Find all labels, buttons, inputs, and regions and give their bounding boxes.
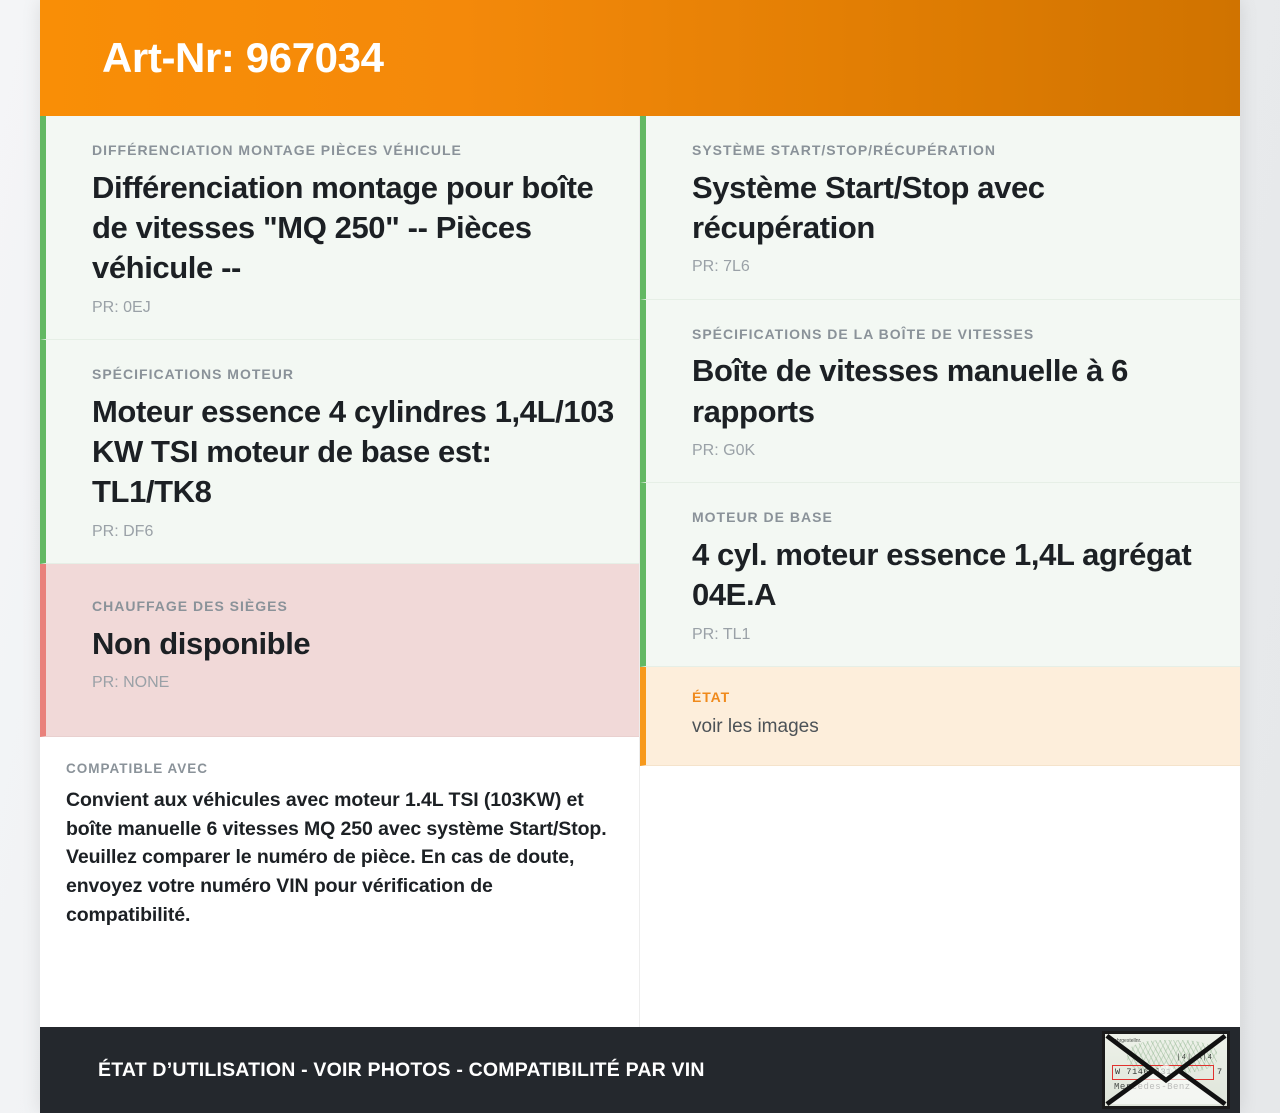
compatibility-text: Convient aux véhicules avec moteur 1.4L … xyxy=(66,786,611,929)
spec-card-seat-heating[interactable]: CHAUFFAGE DES SIÈGES Non disponible PR: … xyxy=(40,564,639,737)
spec-card-title: Système Start/Stop avec récupération xyxy=(692,168,1216,249)
condition-label: ÉTAT xyxy=(692,689,1216,706)
spec-card-title: Différenciation montage pour boîte de vi… xyxy=(92,168,615,289)
header-bar: Art-Nr: 967034 xyxy=(40,0,1240,116)
compatibility-section: COMPATIBLE AVEC Convient aux véhicules a… xyxy=(40,737,639,953)
document-code-top: |4| A|4 xyxy=(1177,1054,1213,1062)
spec-card-label: MOTEUR DE BASE xyxy=(692,509,1216,526)
document-field-label: Fahrgestellnr. xyxy=(1111,1038,1141,1044)
spec-card-title: Boîte de vitesses manuelle à 6 rapports xyxy=(692,351,1216,432)
registration-document-image: Fahrgestellnr. |4| A|4 W 71463J31 7 Merc… xyxy=(1105,1034,1227,1106)
spec-card-label: CHAUFFAGE DES SIÈGES xyxy=(92,598,615,615)
compatibility-label: COMPATIBLE AVEC xyxy=(66,761,611,776)
vin-number: W 71463J31 xyxy=(1115,1067,1172,1077)
spec-card-title: 4 cyl. moteur essence 1,4L agrégat 04E.A xyxy=(692,535,1216,616)
left-column-filler xyxy=(40,953,639,1027)
spec-card-pr-code: PR: 0EJ xyxy=(92,298,615,317)
vin-number-tail: 7 xyxy=(1217,1067,1222,1077)
spec-card-title: Non disponible xyxy=(92,624,615,664)
condition-value: voir les images xyxy=(692,715,1216,740)
spec-card-label: DIFFÉRENCIATION MONTAGE PIÈCES VÉHICULE xyxy=(92,142,615,159)
spec-card-start-stop[interactable]: SYSTÈME START/STOP/RÉCUPÉRATION Système … xyxy=(640,116,1240,300)
listing-sheet: Art-Nr: 967034 DIFFÉRENCIATION MONTAGE P… xyxy=(40,0,1240,1113)
condition-card[interactable]: ÉTAT voir les images xyxy=(640,667,1240,766)
footer-bar: ÉTAT D’UTILISATION - VOIR PHOTOS - COMPA… xyxy=(40,1027,1240,1113)
spec-columns: DIFFÉRENCIATION MONTAGE PIÈCES VÉHICULE … xyxy=(40,116,1240,1027)
page-title: Art-Nr: 967034 xyxy=(102,37,384,79)
spec-card-label: SPÉCIFICATIONS MOTEUR xyxy=(92,366,615,383)
spec-card-label: SYSTÈME START/STOP/RÉCUPÉRATION xyxy=(692,142,1216,159)
left-column: DIFFÉRENCIATION MONTAGE PIÈCES VÉHICULE … xyxy=(40,116,640,1027)
spec-card-engine-specs[interactable]: SPÉCIFICATIONS MOTEUR Moteur essence 4 c… xyxy=(40,340,639,564)
spec-card-pr-code: PR: DF6 xyxy=(92,522,615,541)
spec-card-base-engine[interactable]: MOTEUR DE BASE 4 cyl. moteur essence 1,4… xyxy=(640,483,1240,667)
spec-card-label: SPÉCIFICATIONS DE LA BOÎTE DE VITESSES xyxy=(692,326,1216,343)
spec-card-title: Moteur essence 4 cylindres 1,4L/103 KW T… xyxy=(92,392,615,513)
page-root: Art-Nr: 967034 DIFFÉRENCIATION MONTAGE P… xyxy=(0,0,1280,1113)
right-column: SYSTÈME START/STOP/RÉCUPÉRATION Système … xyxy=(640,116,1240,1027)
spec-card-pr-code: PR: G0K xyxy=(692,441,1216,460)
spec-card-pr-code: PR: TL1 xyxy=(692,625,1216,644)
vehicle-make: Mercedes-Benz xyxy=(1114,1082,1191,1092)
spec-card-gearbox-specs[interactable]: SPÉCIFICATIONS DE LA BOÎTE DE VITESSES B… xyxy=(640,300,1240,484)
spec-card-pr-code: PR: NONE xyxy=(92,673,615,692)
footer-text: ÉTAT D’UTILISATION - VOIR PHOTOS - COMPA… xyxy=(98,1059,705,1082)
spec-card-pr-code: PR: 7L6 xyxy=(692,257,1216,276)
right-column-filler xyxy=(640,766,1240,1027)
spec-card-differentiation[interactable]: DIFFÉRENCIATION MONTAGE PIÈCES VÉHICULE … xyxy=(40,116,639,340)
vin-document-thumbnail[interactable]: Fahrgestellnr. |4| A|4 W 71463J31 7 Merc… xyxy=(1102,1031,1230,1109)
